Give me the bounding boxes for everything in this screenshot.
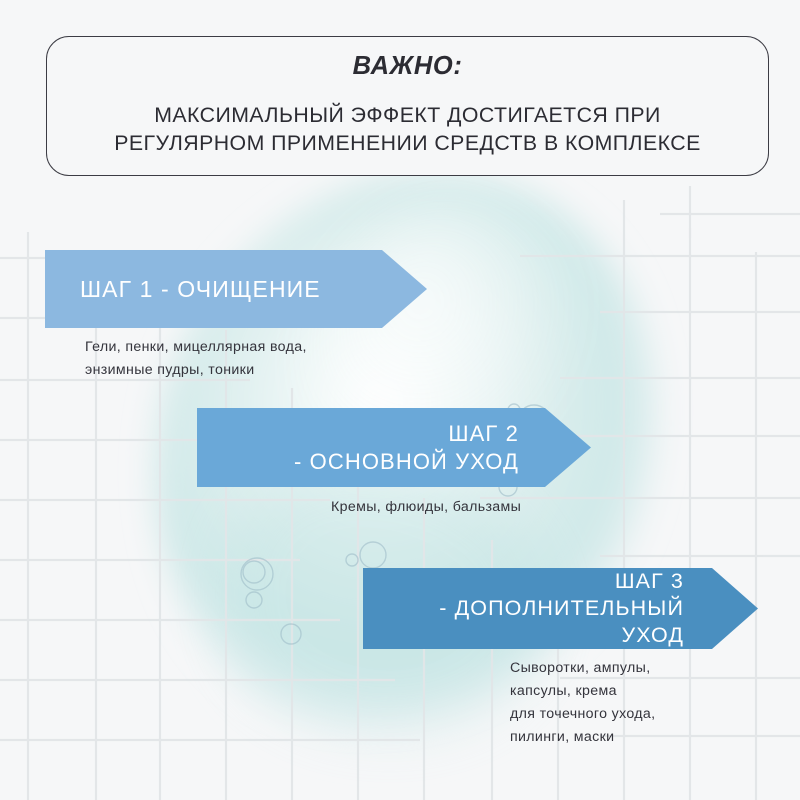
- callout-line-2: РЕГУЛЯРНОМ ПРИМЕНЕНИИ СРЕДСТВ В КОМПЛЕКС…: [114, 129, 701, 157]
- step-3-description: Сыворотки, ампулы, капсулы, крема для то…: [510, 657, 655, 749]
- infographic-canvas: ВАЖНО: МАКСИМАЛЬНЫЙ ЭФФЕКТ ДОСТИГАЕТСЯ П…: [0, 0, 800, 800]
- important-callout-box: ВАЖНО: МАКСИМАЛЬНЫЙ ЭФФЕКТ ДОСТИГАЕТСЯ П…: [46, 36, 769, 176]
- step-2-label: ШАГ 2 - ОСНОВНОЙ УХОД: [197, 420, 591, 475]
- step-2-description: Кремы, флюиды, бальзамы: [331, 496, 521, 519]
- step-1-description: Гели, пенки, мицеллярная вода, энзимные …: [85, 336, 307, 382]
- step-3-label: ШАГ 3 - ДОПОЛНИТЕЛЬНЫЙ УХОД: [363, 568, 758, 649]
- step-1-label: ШАГ 1 - ОЧИЩЕНИЕ: [45, 275, 427, 304]
- callout-eyebrow: ВАЖНО:: [353, 54, 463, 80]
- callout-line-1: МАКСИМАЛЬНЫЙ ЭФФЕКТ ДОСТИГАЕТСЯ ПРИ: [154, 101, 661, 129]
- step-1-arrow[interactable]: ШАГ 1 - ОЧИЩЕНИЕ: [45, 250, 427, 328]
- step-3-arrow[interactable]: ШАГ 3 - ДОПОЛНИТЕЛЬНЫЙ УХОД: [363, 568, 758, 649]
- step-2-arrow[interactable]: ШАГ 2 - ОСНОВНОЙ УХОД: [197, 408, 591, 487]
